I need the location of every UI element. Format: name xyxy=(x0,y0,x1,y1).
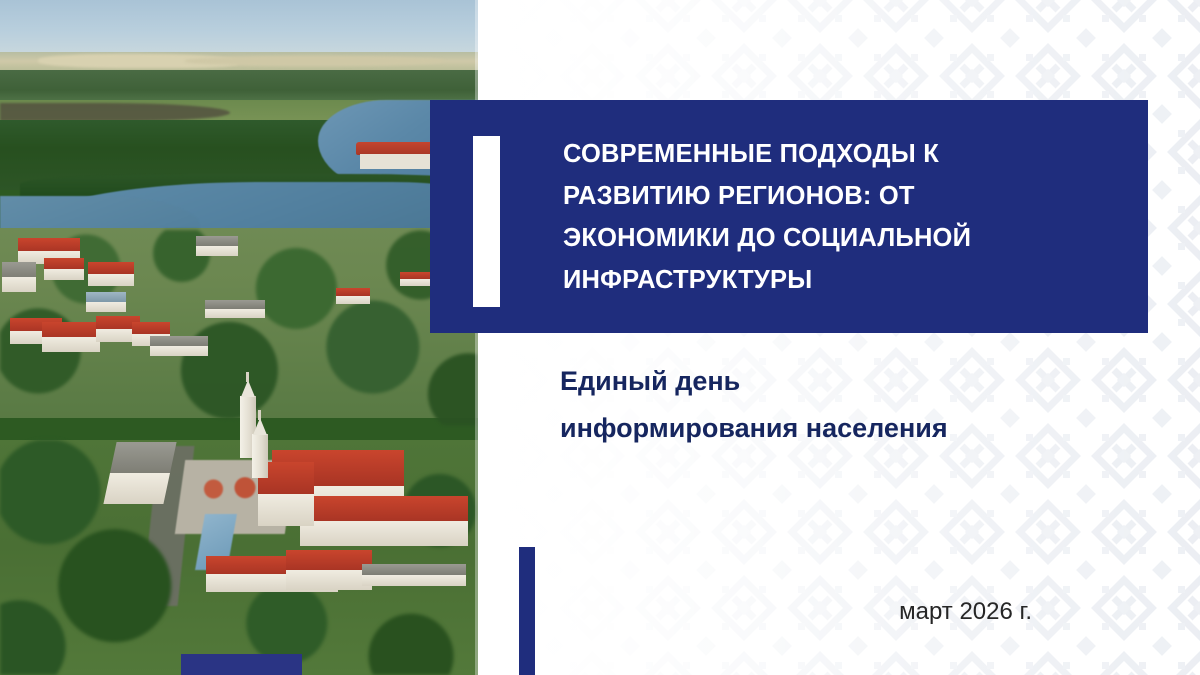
photo-building xyxy=(42,322,100,352)
photo-building xyxy=(400,272,430,286)
photo-monastery-outbuilding xyxy=(286,550,372,590)
photo-building xyxy=(196,236,238,256)
photo-monastery-wing xyxy=(300,496,468,546)
decorative-bottom-block xyxy=(181,654,302,675)
decorative-vertical-bar xyxy=(519,547,535,675)
slide-date: март 2026 г. xyxy=(600,598,1032,626)
photo-building xyxy=(205,300,265,318)
photo-building xyxy=(150,336,208,356)
aerial-photo xyxy=(0,0,478,675)
photo-complex-tower xyxy=(252,434,268,478)
photo-building xyxy=(44,258,84,280)
photo-building xyxy=(88,262,134,286)
photo-building xyxy=(336,288,370,304)
title-accent-bar xyxy=(473,136,500,307)
photo-field-sand-2 xyxy=(185,56,445,66)
photo-building xyxy=(86,292,126,312)
slide-subtitle: Единый день информирования населения xyxy=(560,358,1120,452)
slide-canvas: СОВРЕМЕННЫЕ ПОДХОДЫ К РАЗВИТИЮ РЕГИОНОВ:… xyxy=(0,0,1200,675)
slide-title: СОВРЕМЕННЫЕ ПОДХОДЫ К РАЗВИТИЮ РЕГИОНОВ:… xyxy=(563,133,1123,301)
photo-sky xyxy=(0,0,478,58)
photo-far-forest xyxy=(0,70,478,104)
photo-monastery-complex xyxy=(0,440,478,675)
photo-building xyxy=(2,262,36,292)
photo-monastery-low-building xyxy=(362,564,466,586)
photo-plowed-field xyxy=(0,103,230,121)
